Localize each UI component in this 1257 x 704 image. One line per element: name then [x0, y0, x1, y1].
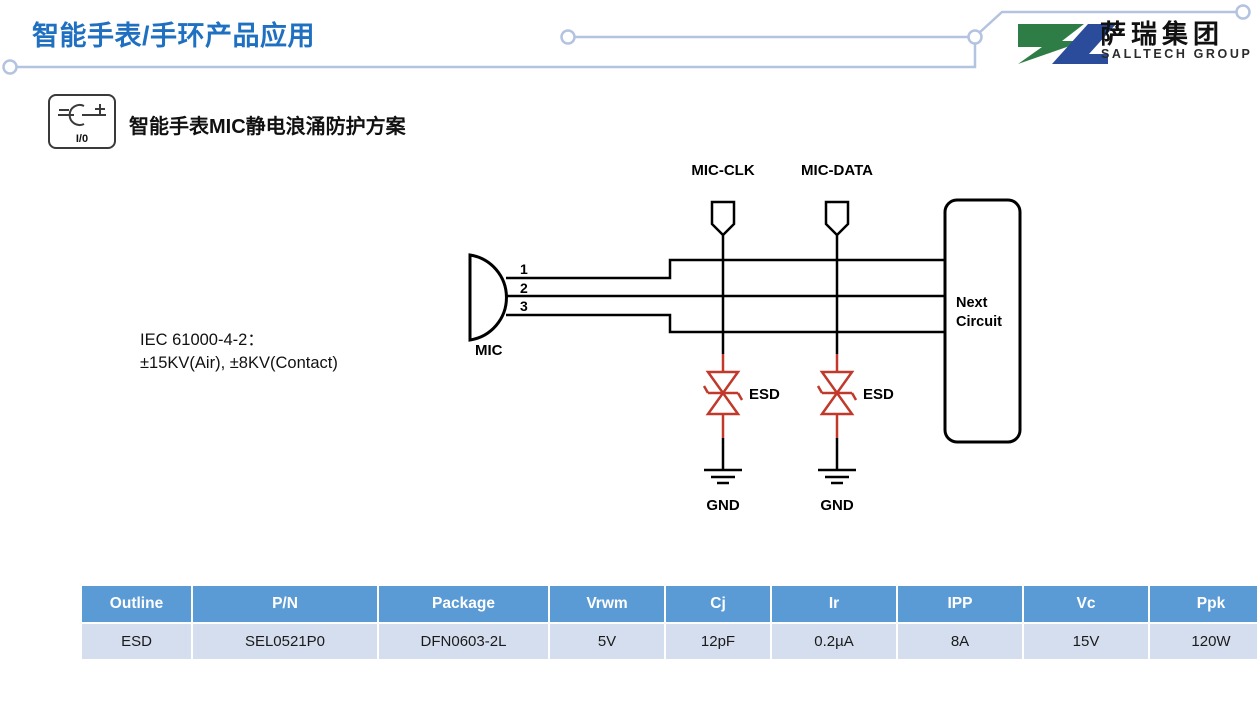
cell-vc: 15V [1023, 623, 1149, 660]
logo-chinese-name: 萨瑞集团 [1100, 14, 1224, 51]
cell-ppk: 120W [1149, 623, 1257, 660]
slide-canvas: 智能手表/手环产品应用 萨瑞集团 SALLTECH GROUP I/0 智能手表… [0, 0, 1257, 704]
gnd-label-2: GND [820, 497, 854, 514]
next-circuit-block: Next Circuit [945, 200, 1020, 442]
net-label-mic-data: MIC-DATA [801, 162, 873, 179]
esd-device-1 [704, 354, 742, 438]
cell-ipp: 8A [897, 623, 1023, 660]
next-circuit-label-line2: Circuit [956, 314, 1002, 330]
table-header-package: Package [378, 585, 549, 623]
cell-vrwm: 5V [549, 623, 665, 660]
next-circuit-label-line1: Next [956, 295, 988, 311]
protection-circuit-schematic: 1 2 3 MIC MIC-CLK MIC-DATA ESD [440, 150, 1060, 540]
io-badge-label: I/0 [76, 133, 88, 145]
net-label-mic-clk: MIC-CLK [691, 162, 754, 179]
table-header-vrwm: Vrwm [549, 585, 665, 623]
product-spec-table: Outline P/N Package Vrwm Cj Ir IPP Vc Pp… [80, 584, 1257, 661]
table-header-row: Outline P/N Package Vrwm Cj Ir IPP Vc Pp… [81, 585, 1257, 623]
iec-standard-note: IEC 61000-4-2： ±15KV(Air), ±8KV(Contact) [140, 329, 338, 376]
pin-number-1: 1 [520, 261, 528, 277]
ground-symbol-2 [818, 438, 856, 483]
table-header-outline: Outline [81, 585, 192, 623]
mic-symbol [470, 255, 506, 340]
cell-package: DFN0603-2L [378, 623, 549, 660]
io-port-icon: I/0 [47, 93, 117, 150]
iec-standard-line1: IEC 61000-4-2： [140, 329, 338, 352]
table-header-cj: Cj [665, 585, 771, 623]
pin-number-2: 2 [520, 280, 528, 296]
table-header-ipp: IPP [897, 585, 1023, 623]
esd-label-2: ESD [863, 386, 894, 403]
logo-english-name: SALLTECH GROUP [1101, 47, 1252, 61]
table-header-vc: Vc [1023, 585, 1149, 623]
esd-label-1: ESD [749, 386, 780, 403]
cell-ir: 0.2µA [771, 623, 897, 660]
mic-wiring [506, 260, 960, 332]
pin-number-3: 3 [520, 298, 528, 314]
cell-outline: ESD [81, 623, 192, 660]
table-row: ESD SEL0521P0 DFN0603-2L 5V 12pF 0.2µA 8… [81, 623, 1257, 660]
iec-standard-line2: ±15KV(Air), ±8KV(Contact) [140, 352, 338, 375]
table-header-ir: Ir [771, 585, 897, 623]
ground-symbol-1 [704, 438, 742, 483]
gnd-label-1: GND [706, 497, 740, 514]
mic-label: MIC [475, 342, 503, 359]
section-title: 智能手表MIC静电浪涌防护方案 [129, 110, 406, 139]
cell-cj: 12pF [665, 623, 771, 660]
esd-device-2 [818, 354, 856, 438]
cell-pn: SEL0521P0 [192, 623, 378, 660]
table-header-ppk: Ppk [1149, 585, 1257, 623]
table-header-pn: P/N [192, 585, 378, 623]
